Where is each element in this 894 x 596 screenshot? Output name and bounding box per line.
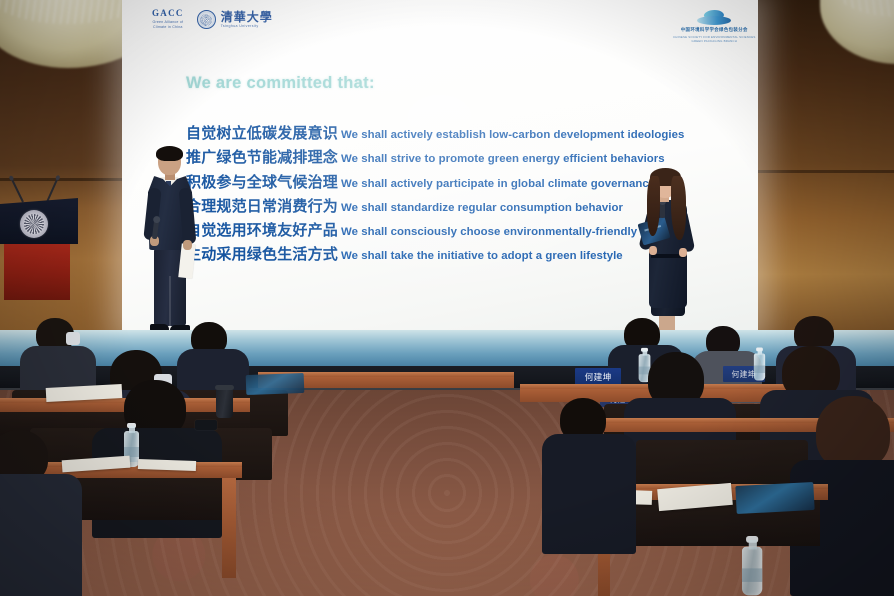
lectern-body bbox=[0, 198, 78, 244]
gacc-subtitle: Green Alliance of Climate in China bbox=[152, 20, 183, 30]
male-presenter bbox=[140, 148, 202, 348]
paper-sheets bbox=[138, 459, 196, 471]
commitment-row: 推广绿色节能减排理念 We shall strive to promote gr… bbox=[186, 146, 746, 170]
commitment-english: We shall actively participate in global … bbox=[341, 178, 655, 190]
tsinghua-seal-icon bbox=[197, 10, 216, 29]
commitment-english: We shall actively establish low-carbon d… bbox=[341, 129, 684, 141]
tablet-device bbox=[246, 373, 305, 395]
commitment-chinese: 推广绿色节能减排理念 bbox=[186, 146, 341, 167]
conference-photo-scene: GACC Green Alliance of Climate in China … bbox=[0, 0, 894, 596]
desk-nameplate-text: 何建坤 bbox=[584, 370, 611, 382]
slide-title: We are committed that: bbox=[186, 74, 375, 93]
partner-logo-chinese: 中国环境科学学会绿色包装分会 bbox=[681, 27, 748, 33]
mobile-phone bbox=[195, 420, 217, 430]
audience-desk-pedestal bbox=[222, 478, 236, 578]
wall-seam-left bbox=[0, 178, 128, 181]
slide-logo-group: GACC Green Alliance of Climate in China … bbox=[152, 9, 273, 30]
commitment-row: 自觉树立低碳发展意识 We shall actively establish l… bbox=[186, 122, 746, 146]
handheld-microphone-icon bbox=[660, 202, 665, 218]
lectern bbox=[0, 198, 78, 296]
university-seal-icon bbox=[20, 210, 48, 238]
commitment-english: We shall strive to promote green energy … bbox=[341, 153, 665, 165]
commitment-chinese: 自觉选用环境友好产品 bbox=[186, 219, 341, 240]
partner-logo-english-line2: GREEN PACKAGING BRANCH bbox=[692, 39, 737, 43]
water-bottle bbox=[742, 536, 762, 595]
tsinghua-name-english: Tsinghua University bbox=[221, 25, 273, 29]
water-bottle bbox=[754, 348, 765, 381]
partner-organization-logo: 中国环境科学学会绿色包装分会 CHINESE SOCIETY FOR ENVIR… bbox=[673, 10, 756, 43]
partner-logo-english: CHINESE SOCIETY FOR ENVIRONMENTAL SCIENC… bbox=[673, 35, 756, 44]
desk-nameplate-text: 何建坤 bbox=[732, 369, 756, 380]
commitment-chinese: 主动采用绿色生活方式 bbox=[186, 243, 341, 264]
commitment-chinese: 自觉树立低碳发展意识 bbox=[186, 122, 341, 143]
partner-logo-mark-icon bbox=[695, 10, 733, 25]
wall-seam-right bbox=[756, 170, 894, 173]
gacc-subtitle-line1: Green Alliance of bbox=[152, 20, 183, 24]
commitment-english: We shall standardize regular consumption… bbox=[341, 202, 623, 214]
gacc-subtitle-line2: Climate in China bbox=[153, 25, 183, 29]
lectern-skirt bbox=[4, 244, 70, 300]
gacc-wordmark: GACC bbox=[152, 9, 184, 18]
commitment-english: We shall take the initiative to adopt a … bbox=[341, 250, 623, 262]
tsinghua-name: 清華大學 Tsinghua University bbox=[221, 11, 273, 29]
commitment-chinese: 合理规范日常消费行为 bbox=[186, 195, 341, 216]
tsinghua-university-logo: 清華大學 Tsinghua University bbox=[197, 10, 273, 29]
coffee-cup bbox=[216, 388, 233, 418]
tablet-device bbox=[735, 482, 814, 514]
tsinghua-name-chinese: 清華大學 bbox=[221, 11, 273, 23]
desk-nameplate: 何建坤 bbox=[575, 368, 621, 385]
gacc-logo: GACC Green Alliance of Climate in China bbox=[152, 9, 184, 30]
commitment-chinese: 积极参与全球气候治理 bbox=[186, 171, 341, 192]
